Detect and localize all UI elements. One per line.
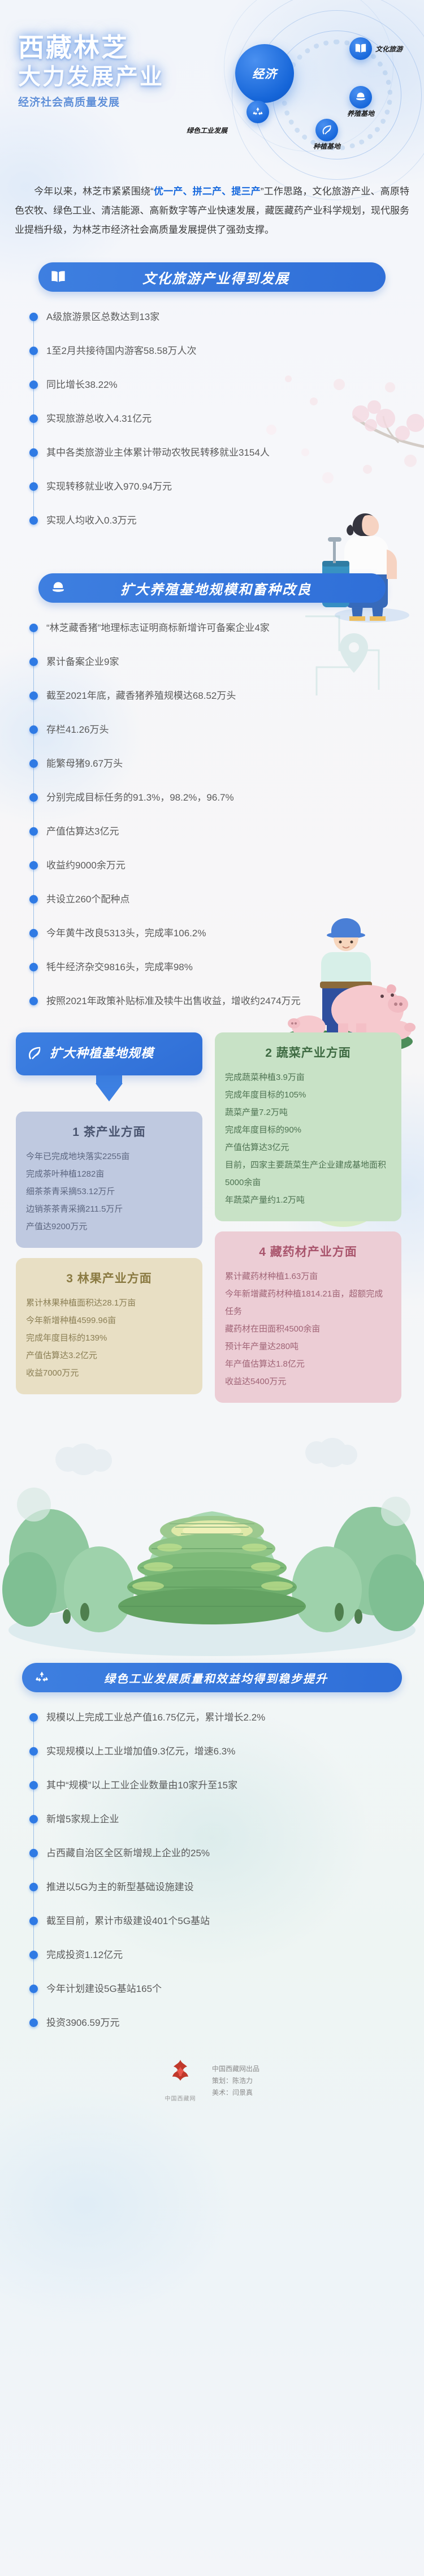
card-line: 蔬菜产量7.2万吨 — [225, 1104, 391, 1121]
logo-caption: 中国西藏网 — [165, 2094, 196, 2102]
credit-line: 美术：闫景真 — [212, 2087, 259, 2099]
arrow-stem — [96, 1075, 122, 1083]
card-fruit-industry: 3 林果产业方面 累计林果种植面积达28.1万亩 今年新增种植4599.96亩 … — [16, 1258, 202, 1394]
list-item: 推进以5G为主的新型基础设施建设 — [46, 1879, 363, 1913]
list-item: 产值估算达3亿元 — [46, 823, 363, 857]
section-title: 文化旅游产业得到发展 — [73, 267, 386, 287]
list-item: 占西藏自治区全区新增规上企业的25% — [46, 1845, 363, 1879]
list-item: 其中各类旅游业主体累计带动农牧民转移就业3154人 — [46, 444, 397, 478]
list-item: 牦牛经济杂交9816头，完成率98% — [46, 959, 363, 993]
orbit-node-label: 种植基地 — [313, 141, 340, 151]
card-line: 产值估算达3亿元 — [225, 1139, 391, 1156]
section-banner-green-industry: 绿色工业发展质量和效益均得到稳步提升 — [22, 1663, 402, 1692]
list-item: 实现旅游总收入4.31亿元 — [46, 410, 363, 444]
card-title: 3 林果产业方面 — [26, 1269, 192, 1286]
economy-core-bubble: 经济 — [235, 44, 294, 103]
hat-icon — [349, 86, 372, 109]
card-line: 完成蔬菜种植3.9万亩 — [225, 1069, 391, 1086]
orbit-node-culture-tourism[interactable]: 文化旅游 — [349, 37, 403, 60]
card-line: 产值估算达3.2亿元 — [26, 1347, 192, 1364]
card-line: 今年已完成地块落实2255亩 — [26, 1148, 192, 1165]
section-title: 扩大种植基地规模 — [50, 1045, 154, 1062]
list-item: 其中“规模”以上工业企业数量由10家升至15家 — [46, 1777, 397, 1811]
terraced-field-illustration — [0, 1420, 424, 1657]
green-industry-bullet-list: 规模以上完成工业总产值16.75亿元，累计增长2.2% 实现规模以上工业增加值9… — [29, 1709, 397, 2032]
list-item: 实现人均收入0.3万元 — [46, 512, 363, 529]
planting-cards-grid: 扩大种植基地规模 1 茶产业方面 今年已完成地块落实2255亩 完成茶叶种植12… — [16, 1032, 408, 1403]
orbit-node-label: 绿色工业发展 — [187, 126, 227, 135]
card-vegetable-industry: 2 蔬菜产业方面 完成蔬菜种植3.9万亩 完成年度目标的105% 蔬菜产量7.2… — [215, 1032, 401, 1221]
list-item: 截至目前，累计市级建设401个5G基站 — [46, 1913, 363, 1947]
recycle-icon — [246, 101, 269, 123]
intro-highlight: 优一产、拼二产、提三产 — [154, 186, 261, 197]
list-item: 完成投资1.12亿元 — [46, 1947, 363, 1981]
hat-icon — [43, 580, 73, 596]
list-item: 今年计划建设5G基站165个 — [46, 1981, 363, 2015]
card-line: 今年新增种植4599.96亩 — [26, 1312, 192, 1329]
list-item: 实现规模以上工业增加值9.3亿元，增速6.3% — [46, 1743, 397, 1777]
list-item: 今年黄牛改良5313头，完成率106.2% — [46, 925, 363, 959]
list-item: 投资3906.59万元 — [46, 2015, 363, 2032]
arrow-down-icon — [96, 1083, 123, 1101]
list-item: 能繁母猪9.67万头 — [46, 755, 363, 789]
culture-tourism-bullet-list: A级旅游景区总数达到13家 1至2月共接待国内游客58.58万人次 同比增长38… — [29, 309, 397, 529]
card-line: 累计藏药材种植1.63万亩 — [225, 1268, 391, 1285]
page-title: 西藏林芝 — [18, 32, 164, 63]
logo-block: 中国西藏网 — [165, 2056, 196, 2102]
orbit-node-planting-base[interactable]: 种植基地 — [315, 119, 338, 141]
card-line: 细茶茶青采摘53.12万斤 — [26, 1183, 192, 1200]
leaf-icon — [26, 1045, 43, 1062]
card-line: 边销茶茶青采摘211.5万斤 — [26, 1200, 192, 1218]
planting-left-column: 扩大种植基地规模 1 茶产业方面 今年已完成地块落实2255亩 完成茶叶种植12… — [16, 1032, 202, 1403]
list-item: 1至2月共接待国内游客58.58万人次 — [46, 343, 363, 377]
hero-section: 经济 文化旅游 养殖基地 种植基地 — [0, 0, 424, 170]
card-line: 目前，四家主要蔬菜生产企业建成基地面积5000余亩 — [225, 1156, 391, 1191]
list-item: 共设立260个配种点 — [46, 891, 363, 925]
list-item: 同比增长38.22% — [46, 377, 363, 410]
credit-line: 策划：陈浩力 — [212, 2075, 259, 2087]
orbit-node-label: 养殖基地 — [347, 109, 374, 118]
section-banner-breeding: 扩大养殖基地规模和畜种改良 — [38, 573, 386, 603]
list-item: 收益约9000余万元 — [46, 857, 363, 891]
list-item: 截至2021年底，藏香猪养殖规模达68.52万头 — [46, 688, 397, 721]
intro-part-1: 今年以来，林芝市紧紧围绕“ — [34, 186, 154, 197]
intro-paragraph: 今年以来，林芝市紧紧围绕“优一产、拼二产、提三产”工作思路，文化旅游产业、高原特… — [0, 170, 424, 242]
mountain-scene-svg — [0, 1420, 424, 1657]
card-tibetan-medicine-industry: 4 藏药材产业方面 累计藏药材种植1.63万亩 今年新增藏药材种植1814.21… — [215, 1231, 401, 1403]
footer: 中国西藏网 中国西藏网出品 策划：陈浩力 美术：闫景真 — [0, 2032, 424, 2125]
book-icon — [43, 269, 73, 285]
card-line: 年蔬菜产量约1.2万吨 — [225, 1191, 391, 1209]
page-subtitle-large: 大力发展产业 — [18, 62, 164, 92]
hero-title-block: 西藏林芝 大力发展产业 经济社会高质量发展 — [18, 32, 164, 109]
recycle-icon — [27, 1670, 57, 1685]
card-title: 4 藏药材产业方面 — [225, 1243, 391, 1260]
card-line: 收益达5400万元 — [225, 1373, 391, 1390]
orbit-node-breeding-base[interactable]: 养殖基地 — [349, 86, 372, 109]
credit-line: 中国西藏网出品 — [212, 2063, 259, 2075]
list-item: 按照2021年政策补贴标准及犊牛出售收益，增收约2474万元 — [46, 993, 397, 1010]
section-header-planting: 扩大种植基地规模 — [16, 1032, 202, 1075]
book-icon — [349, 37, 372, 60]
section-title: 绿色工业发展质量和效益均得到稳步提升 — [57, 1670, 402, 1686]
card-tea-industry: 1 茶产业方面 今年已完成地块落实2255亩 完成茶叶种植1282亩 细茶茶青采… — [16, 1112, 202, 1248]
list-item: 存栏41.26万头 — [46, 721, 363, 755]
card-line: 收益7000万元 — [26, 1364, 192, 1382]
economy-core-label: 经济 — [252, 65, 277, 82]
infographic-page: 经济 文化旅游 养殖基地 种植基地 — [0, 0, 424, 2576]
card-line: 产值达9200万元 — [26, 1218, 192, 1235]
card-title: 1 茶产业方面 — [26, 1123, 192, 1140]
list-item: A级旅游景区总数达到13家 — [46, 309, 363, 343]
footer-row: 中国西藏网 中国西藏网出品 策划：陈浩力 美术：闫景真 — [0, 2056, 424, 2102]
section-banner-culture-tourism: 文化旅游产业得到发展 — [38, 262, 386, 292]
planting-right-column: 2 蔬菜产业方面 完成蔬菜种植3.9万亩 完成年度目标的105% 蔬菜产量7.2… — [215, 1032, 401, 1403]
card-line: 年产值估算达1.8亿元 — [225, 1355, 391, 1373]
china-tibet-net-logo-icon — [165, 2056, 196, 2088]
credits-block: 中国西藏网出品 策划：陈浩力 美术：闫景真 — [212, 2060, 259, 2099]
list-item: 分别完成目标任务的91.3%，98.2%，96.7% — [46, 789, 363, 823]
page-tagline: 经济社会高质量发展 — [18, 94, 164, 109]
orbit-node-green-industry[interactable]: 绿色工业发展 — [246, 101, 269, 123]
list-item: “林芝藏香猪”地理标志证明商标新增许可备案企业4家 — [46, 620, 397, 654]
orbit-node-label: 文化旅游 — [375, 44, 403, 54]
card-line: 完成年度目标的139% — [26, 1329, 192, 1347]
list-item: 实现转移就业收入970.94万元 — [46, 478, 363, 512]
breeding-bullet-list: “林芝藏香猪”地理标志证明商标新增许可备案企业4家 累计备案企业9家 截至202… — [29, 620, 397, 1010]
leaf-icon — [315, 119, 338, 141]
card-line: 完成年度目标的90% — [225, 1121, 391, 1139]
section-title: 扩大养殖基地规模和畜种改良 — [73, 578, 386, 598]
list-item: 新增5家规上企业 — [46, 1811, 363, 1845]
card-line: 预计年产量达280吨 — [225, 1338, 391, 1355]
card-line: 今年新增藏药材种植1814.21亩，超额完成任务 — [225, 1285, 391, 1320]
card-title: 2 蔬菜产业方面 — [225, 1044, 391, 1061]
card-line: 完成茶叶种植1282亩 — [26, 1165, 192, 1183]
card-line: 完成年度目标的105% — [225, 1086, 391, 1104]
card-line: 藏药材在田面积4500余亩 — [225, 1320, 391, 1338]
card-line: 累计林果种植面积达28.1万亩 — [26, 1294, 192, 1312]
list-item: 规模以上完成工业总产值16.75亿元，累计增长2.2% — [46, 1709, 397, 1743]
list-item: 累计备案企业9家 — [46, 654, 363, 688]
